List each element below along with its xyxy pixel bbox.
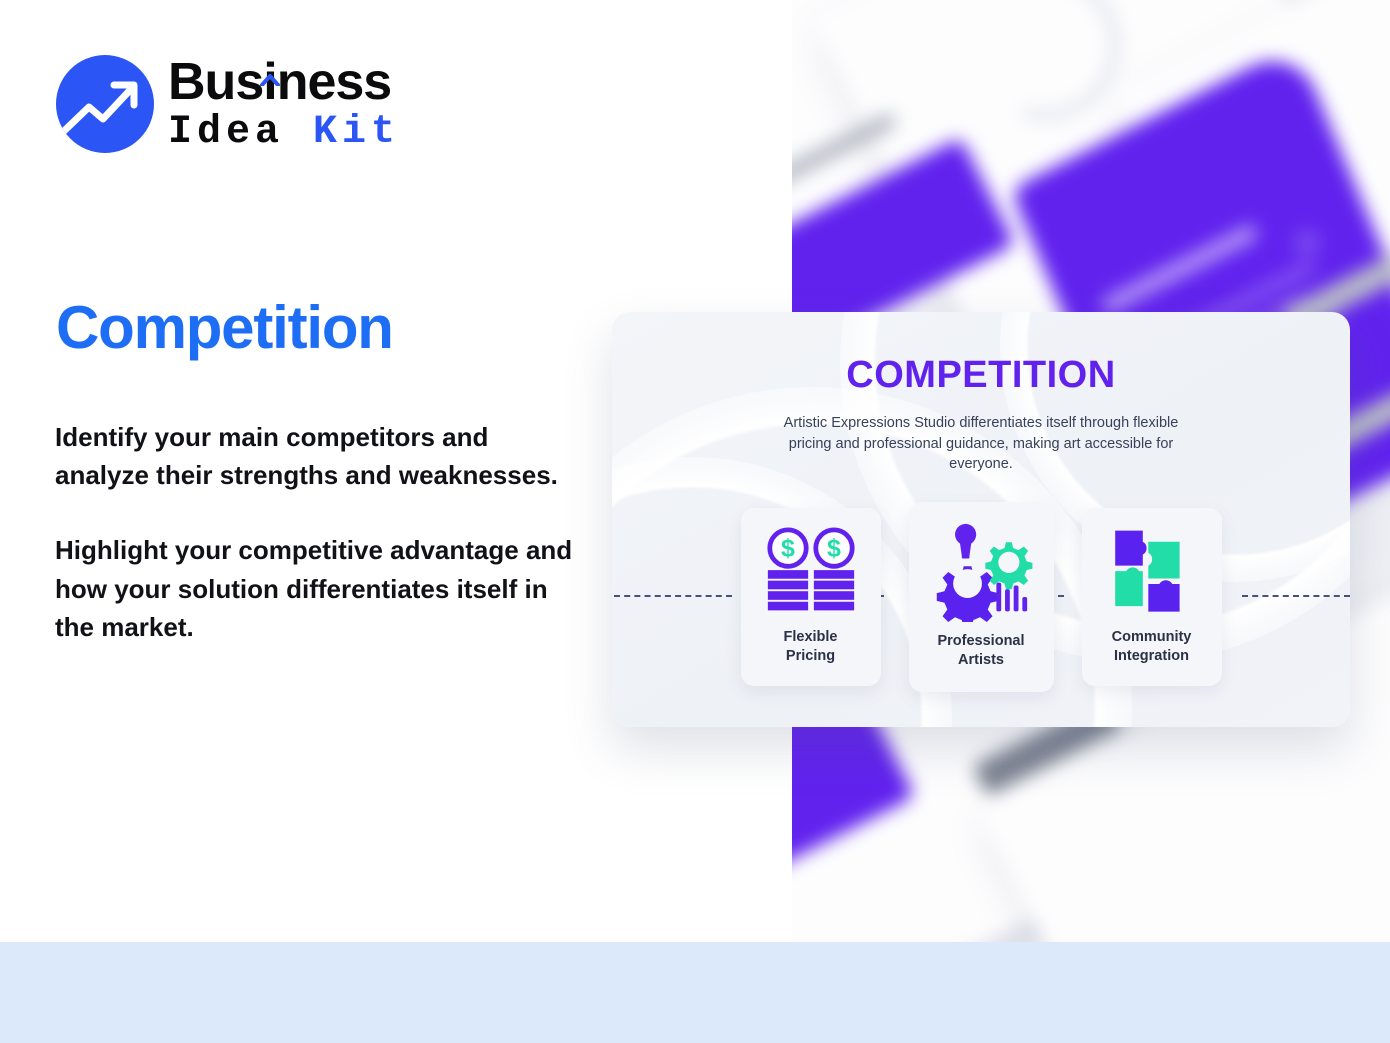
feature-tile-label: Community Integration [1112, 628, 1192, 665]
body-paragraph: Identify your main competitors and analy… [55, 418, 585, 494]
feature-tiles: $ $ [612, 502, 1350, 692]
feature-tile-label-line2: Artists [937, 651, 1024, 670]
feature-tile-label-line1: Flexible [784, 628, 838, 647]
feature-tile-community-integration[interactable]: Community Integration [1082, 508, 1222, 686]
feature-tile-label: Flexible Pricing [784, 628, 838, 665]
preview-title: COMPETITION [612, 354, 1350, 397]
preview-description: Artistic Expressions Studio differentiat… [781, 413, 1181, 475]
feature-tile-label-line1: Professional [937, 632, 1024, 651]
feature-tile-label-line2: Pricing [784, 647, 838, 666]
body-copy: Identify your main competitors and analy… [55, 418, 585, 646]
brand-name-line2: Idea Kit [168, 113, 400, 153]
brand-wordmark: Business Idea Kit [168, 56, 400, 153]
page-title: Competition [56, 296, 393, 359]
gears-lightbulb-chart-icon [927, 518, 1035, 626]
puzzle-pieces-icon [1106, 524, 1198, 622]
brand-name-suffix: ness [277, 53, 392, 111]
brand-name-line1: Business [168, 56, 400, 108]
brand-subtitle-primary: Idea [168, 110, 284, 155]
circumflex-accent-icon [260, 43, 280, 55]
brand-name-prefix: Bus [168, 53, 263, 111]
feature-tile-professional-artists[interactable]: Professional Artists [909, 502, 1054, 692]
slide-preview-card[interactable]: COMPETITION Artistic Expressions Studio … [612, 312, 1350, 727]
slide-page: Business Idea Kit Competition Identify y… [0, 0, 1390, 1043]
body-paragraph: Highlight your competitive advantage and… [55, 531, 585, 646]
svg-text:$: $ [827, 535, 841, 563]
brand-subtitle-accent: Kit [313, 110, 400, 155]
feature-tile-label-line2: Integration [1112, 647, 1192, 666]
bottom-accent-strip [0, 942, 1390, 1043]
brand-logo[interactable]: Business Idea Kit [56, 55, 400, 153]
feature-tile-label-line1: Community [1112, 628, 1192, 647]
svg-text:$: $ [781, 535, 795, 563]
feature-tile-label: Professional Artists [937, 632, 1024, 669]
coin-stacks-dollar-icon: $ $ [761, 524, 861, 622]
feature-tile-flexible-pricing[interactable]: $ $ [741, 508, 881, 686]
trending-up-arrow-icon [56, 55, 154, 153]
